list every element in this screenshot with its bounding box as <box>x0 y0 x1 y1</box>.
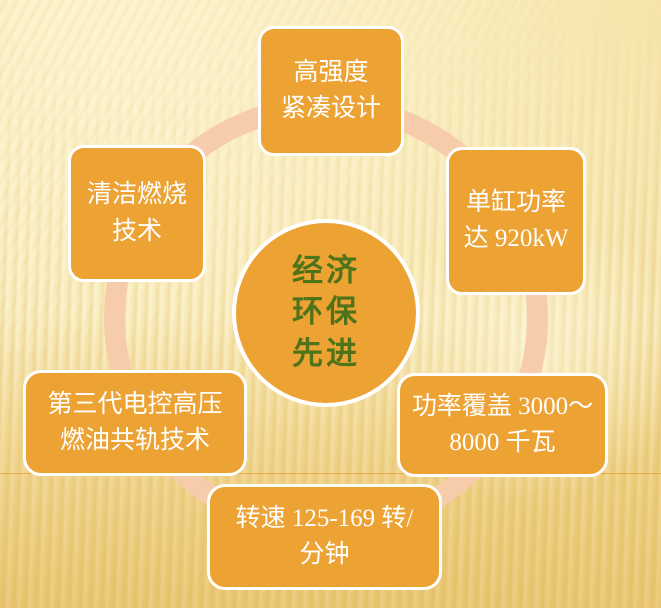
center-hub-line-2: 环保 <box>292 292 360 333</box>
node-high-strength-compact-design[interactable]: 高强度 紧凑设计 <box>258 26 404 156</box>
node-clean-combustion[interactable]: 清洁燃烧 技术 <box>68 145 206 282</box>
node-bottom-line-2: 分钟 <box>299 541 349 568</box>
center-hub[interactable]: 经济 环保 先进 <box>232 219 420 407</box>
node-left2-line-2: 燃油共轨技术 <box>60 427 210 454</box>
node-bottom-text: 转速 125-169 转/ 分钟 <box>220 501 429 574</box>
node-left2-line-1: 第三代电控高压 <box>47 391 222 418</box>
center-hub-line-1: 经济 <box>292 251 360 292</box>
node-right1-text: 单缸功率 达 920kW <box>459 185 573 258</box>
slide-canvas: 经济 环保 先进 高强度 紧凑设计 单缸功率 达 920kW 功率覆盖 3000… <box>0 0 661 608</box>
node-top-line-2: 紧凑设计 <box>281 95 381 122</box>
node-left1-line-2: 技术 <box>112 218 162 245</box>
node-right1-line-1: 单缸功率 <box>466 189 566 216</box>
node-bottom-line-1: 转速 125-169 转/ <box>236 505 414 532</box>
node-left1-line-1: 清洁燃烧 <box>87 181 187 208</box>
node-power-coverage-range[interactable]: 功率覆盖 3000～ 8000 千瓦 <box>397 373 608 477</box>
node-right2-line-2: 8000 千瓦 <box>449 429 555 456</box>
node-single-cylinder-power[interactable]: 单缸功率 达 920kW <box>446 147 586 295</box>
node-top-line-1: 高强度 <box>293 59 368 86</box>
node-right2-text: 功率覆盖 3000～ 8000 千瓦 <box>410 389 595 462</box>
node-right1-line-2: 达 920kW <box>464 225 569 252</box>
node-third-gen-common-rail[interactable]: 第三代电控高压 燃油共轨技术 <box>23 370 247 476</box>
node-left1-text: 清洁燃烧 技术 <box>81 177 193 250</box>
center-hub-line-3: 先进 <box>292 334 360 375</box>
node-top-text: 高强度 紧凑设计 <box>271 55 391 128</box>
node-left2-text: 第三代电控高压 燃油共轨技术 <box>36 387 234 460</box>
node-right2-line-1: 功率覆盖 3000～ <box>412 393 593 420</box>
node-rotation-speed[interactable]: 转速 125-169 转/ 分钟 <box>207 484 442 590</box>
